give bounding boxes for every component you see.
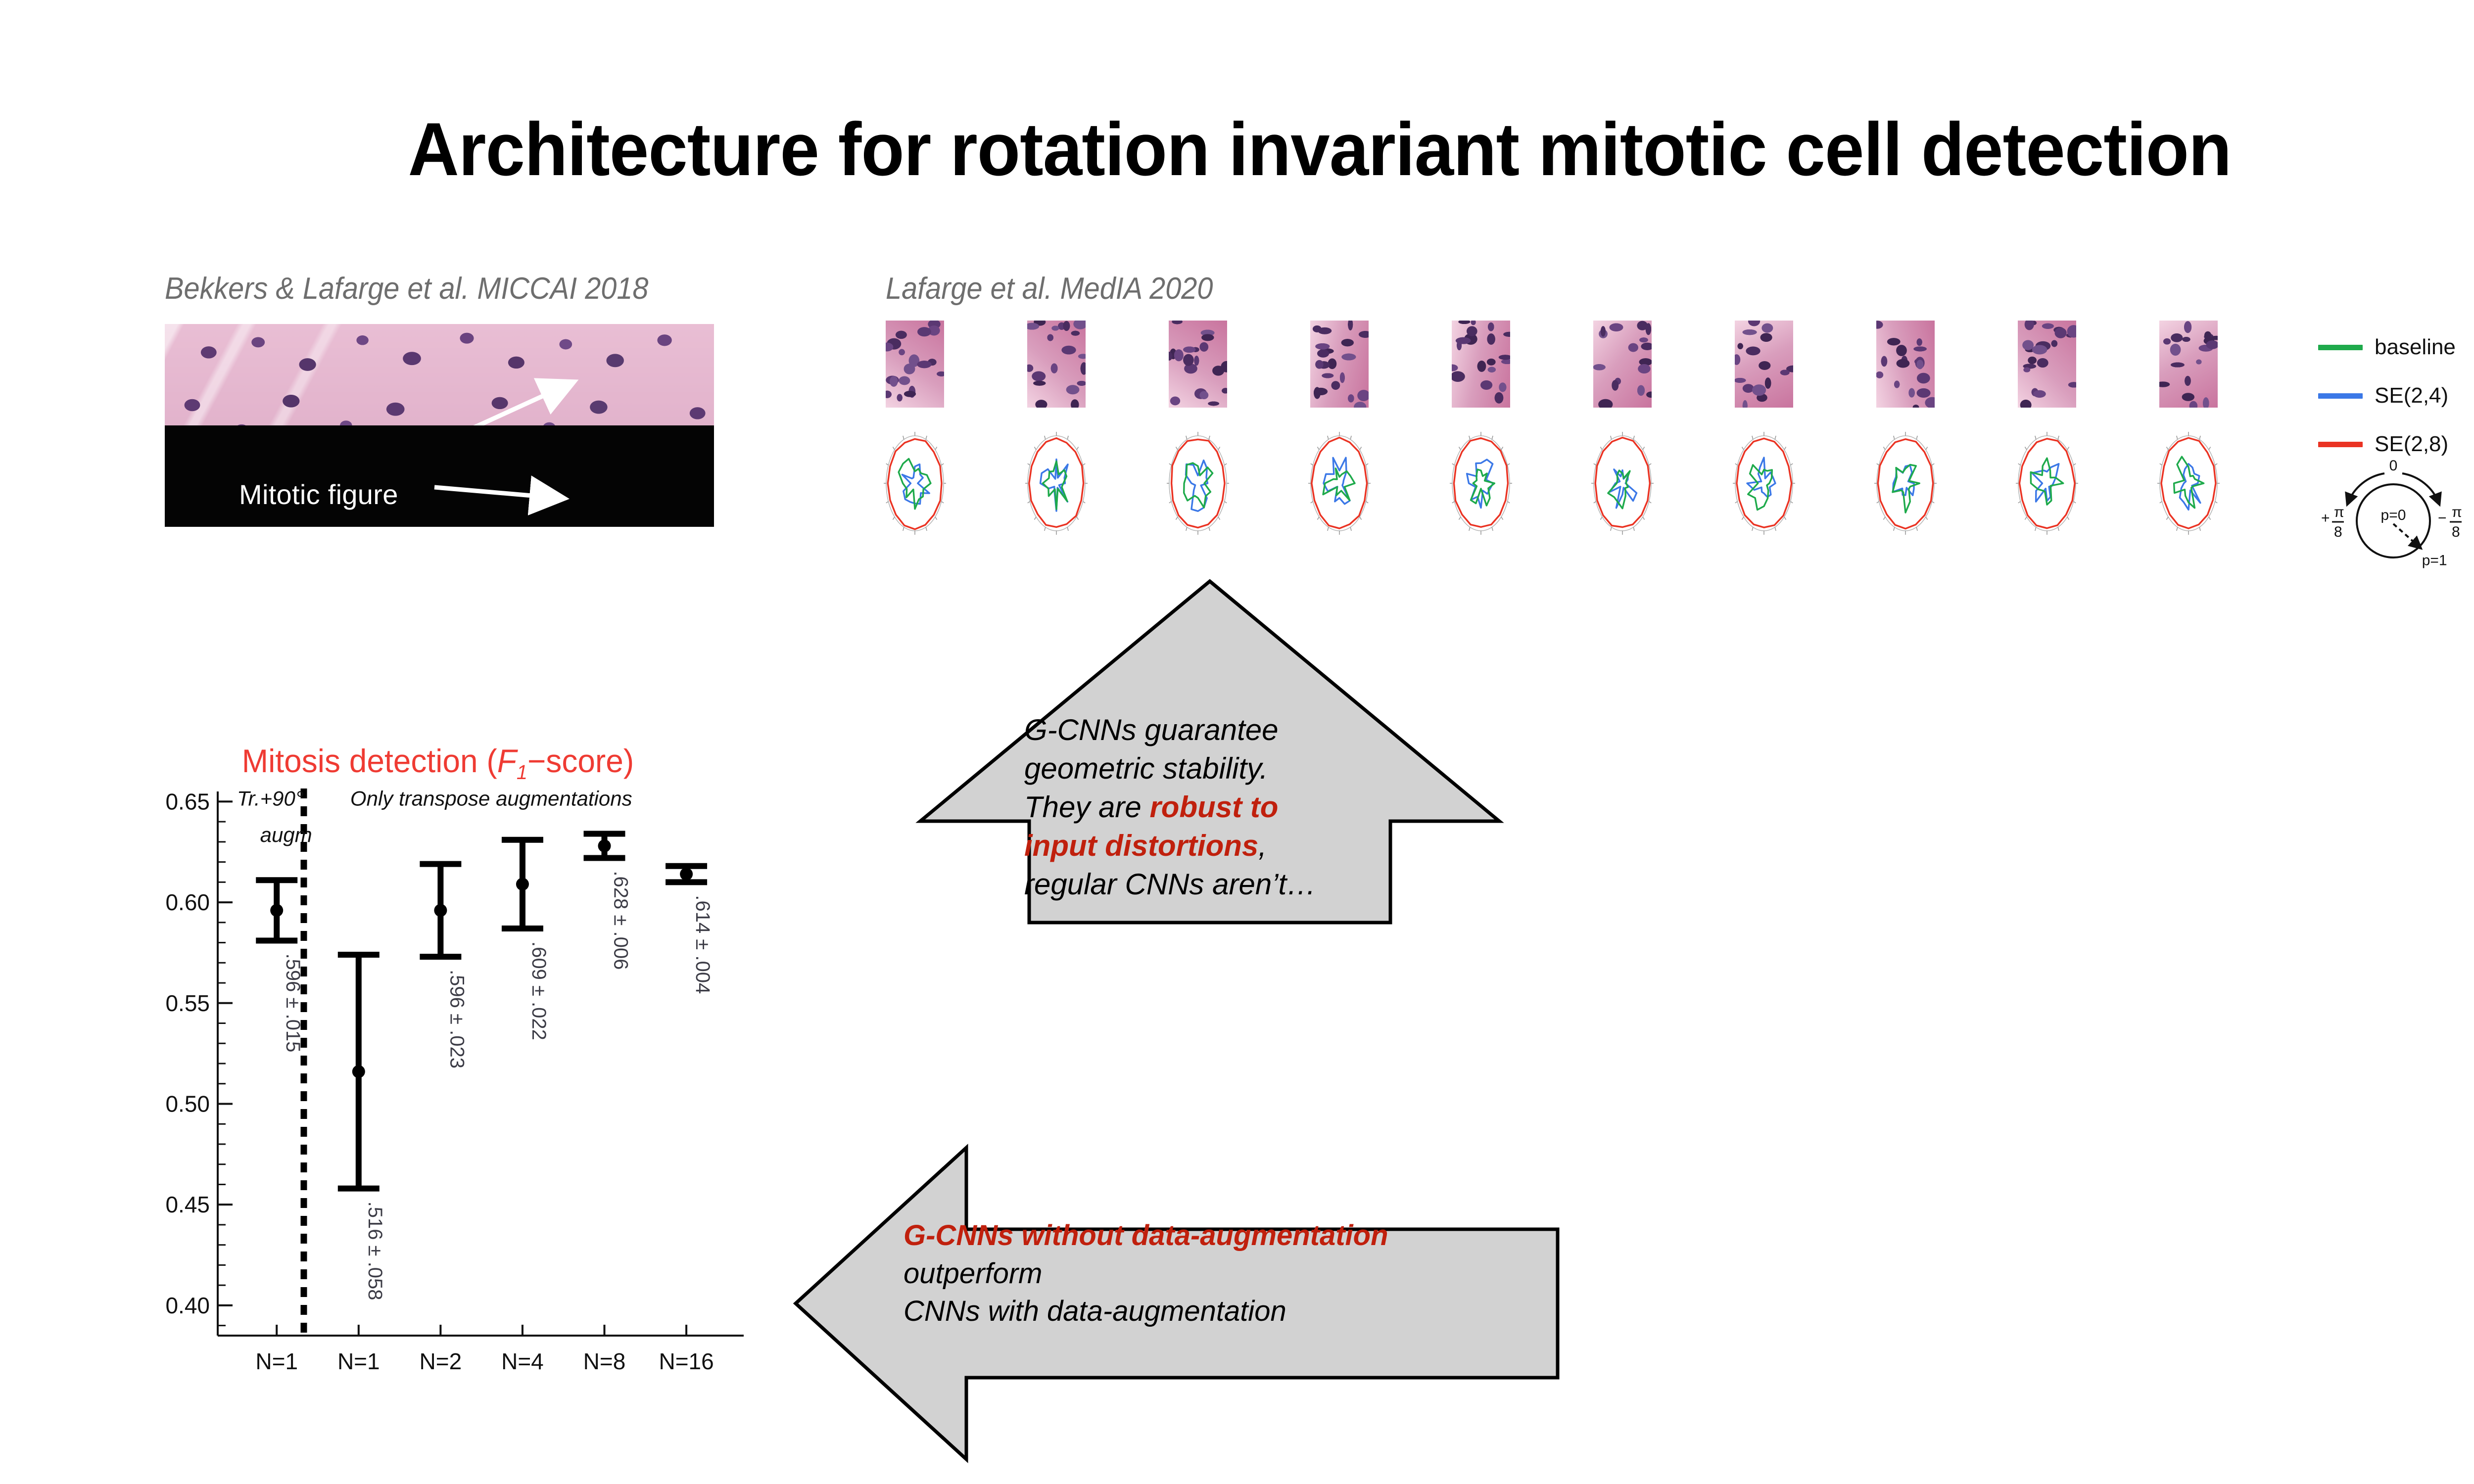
x-tick-label: N=4 — [501, 1348, 544, 1374]
data-point-label: .628 ± .006 — [610, 871, 632, 970]
up-line4-plain: , — [1258, 829, 1267, 862]
legend-color-swatch — [2318, 393, 2363, 399]
histology-thumbnail — [2159, 321, 2218, 408]
chart-title-f: F1 — [497, 742, 527, 779]
polar-stability-plot — [1868, 431, 1943, 535]
data-point-label: .614 ± .004 — [692, 895, 714, 994]
data-point-label: .609 ± .022 — [528, 941, 550, 1040]
polar-stability-plot — [2010, 431, 2084, 535]
chart-annotation: Only transpose augmentations — [350, 787, 632, 810]
data-point — [502, 840, 543, 928]
polar-outer-ring — [1594, 436, 1651, 531]
mitotic-pointer-arrow-bottom — [165, 425, 714, 527]
callout-left-arrow: G-CNNs without data-augmentation outperf… — [791, 1143, 1563, 1464]
data-point — [420, 864, 461, 957]
histology-thumbnail — [886, 321, 944, 408]
mitosis-detection-chart: Mitosis detection (F1−score) 0.650.600.5… — [126, 742, 750, 1395]
detection-heatmap — [165, 425, 714, 527]
mitotic-figure-label: Mitotic figure — [239, 478, 398, 510]
callout-up-text: G-CNNs guarantee geometric stability. Th… — [1024, 711, 1390, 904]
polar-key-center-label: p=0 — [2381, 507, 2406, 523]
up-line3-plain: They are — [1024, 790, 1149, 824]
x-tick-label: N=8 — [583, 1348, 626, 1374]
left-panel-caption: Bekkers & Lafarge et al. MICCAI 2018 — [165, 271, 649, 306]
chart-title-prefix: Mitosis detection ( — [242, 742, 497, 779]
histology-thumbnail — [1876, 321, 1935, 408]
chart-annotation: Tr.+90° — [237, 787, 304, 810]
histology-thumbnail — [2018, 321, 2076, 408]
up-line2: geometric stability. — [1024, 752, 1268, 785]
polar-stability-plot — [1019, 431, 1094, 535]
legend-label: baseline — [2375, 335, 2456, 360]
y-tick-label: 0.60 — [165, 889, 210, 915]
chart-annotation: augm — [260, 823, 312, 846]
polar-series — [1737, 438, 1792, 527]
polar-outer-ring — [1877, 436, 1934, 531]
legend-label: SE(2,8) — [2375, 432, 2448, 457]
up-line3-highlight: robust to — [1149, 790, 1278, 824]
y-tick-label: 0.65 — [165, 788, 210, 814]
polar-series — [1878, 439, 1933, 529]
polar-key-right-label: − — [2438, 510, 2447, 526]
histology-thumbnail — [1735, 321, 1793, 408]
up-line5: regular CNNs aren’t… — [1024, 868, 1316, 901]
y-tick-label: 0.40 — [165, 1293, 210, 1318]
legend-label: SE(2,4) — [2375, 383, 2448, 408]
left-line1-highlight: G-CNNs without data-augmentation — [904, 1219, 1388, 1252]
polar-stability-plot — [1585, 431, 1660, 535]
polar-series — [1323, 468, 1355, 501]
polar-outer-ring — [1169, 436, 1227, 531]
polar-series — [1029, 438, 1084, 527]
polar-key-top-label: 0 — [2389, 458, 2398, 474]
polar-series — [2019, 439, 2075, 528]
histology-thumbnail — [1169, 321, 1227, 408]
polar-stability-plot — [2151, 431, 2226, 535]
data-point-label: .596 ± .023 — [446, 970, 468, 1068]
data-point — [584, 834, 625, 858]
polar-key-left-num: π — [2334, 504, 2344, 520]
polar-key-left-label: + — [2321, 510, 2330, 526]
polar-key-edge-label: p=1 — [2422, 553, 2447, 569]
legend-color-swatch — [2318, 345, 2363, 350]
right-panel-caption: Lafarge et al. MedIA 2020 — [886, 271, 1213, 306]
histology-image: Mitotic figure — [165, 324, 714, 527]
histology-thumbnail — [1593, 321, 1652, 408]
data-point-label: .516 ± .058 — [364, 1202, 386, 1300]
x-tick-label: N=1 — [255, 1348, 298, 1374]
left-line2: outperform — [904, 1257, 1042, 1290]
y-tick-label: 0.50 — [165, 1091, 210, 1116]
callout-left-text: G-CNNs without data-augmentation outperf… — [904, 1217, 1522, 1331]
legend-color-swatch — [2318, 442, 2363, 447]
polar-series — [1172, 439, 1225, 527]
polar-key-left-den: 8 — [2334, 524, 2342, 540]
up-line1: G-CNNs guarantee — [1024, 713, 1279, 746]
data-point-label: .596 ± .015 — [282, 953, 304, 1052]
polar-outer-ring — [1311, 436, 1368, 531]
x-tick-label: N=2 — [420, 1348, 462, 1374]
polar-outer-ring — [1735, 436, 1793, 531]
legend-item-baseline: baseline — [2318, 332, 2456, 362]
y-tick-label: 0.45 — [165, 1192, 210, 1217]
polar-key-right-den: 8 — [2452, 524, 2460, 540]
data-point — [338, 955, 380, 1189]
polar-stability-plot — [1444, 431, 1518, 535]
histology-thumbnail — [1027, 321, 1086, 408]
polar-series — [1595, 438, 1650, 527]
chart-plot-area: 0.650.600.550.500.450.40N=1N=1N=2N=4N=8N… — [126, 778, 750, 1391]
histology-thumbnail — [1452, 321, 1510, 408]
polar-outer-ring — [2018, 436, 2076, 531]
x-tick-label: N=16 — [659, 1348, 714, 1374]
polar-series — [1454, 438, 1508, 527]
polar-series — [1312, 438, 1367, 529]
x-tick-label: N=1 — [337, 1348, 380, 1374]
polar-stability-plot — [1302, 431, 1377, 535]
page-title: Architecture for rotation invariant mito… — [79, 106, 2474, 193]
callout-up-arrow: G-CNNs guarantee geometric stability. Th… — [913, 571, 1507, 932]
data-point — [666, 866, 707, 882]
polar-outer-ring — [2160, 436, 2217, 531]
up-line4-highlight: input distortions — [1024, 829, 1258, 862]
left-line3: CNNs with data-augmentation — [904, 1295, 1286, 1327]
data-point — [256, 880, 297, 940]
histology-thumbnail — [1310, 321, 1369, 408]
polar-key-diagram: 0+π8−π8p=0p=1 — [2287, 454, 2474, 603]
polar-stability-plot — [1161, 431, 1235, 535]
y-tick-label: 0.55 — [165, 990, 210, 1016]
polar-key-right-num: π — [2452, 504, 2462, 520]
polar-series — [888, 439, 942, 529]
polar-stability-plot — [1727, 431, 1801, 535]
chart-title-suffix: −score) — [527, 742, 634, 779]
polar-stability-plot — [878, 431, 952, 535]
polar-series — [1184, 463, 1213, 508]
polar-series — [2161, 438, 2216, 528]
legend-item-se-2-4-: SE(2,4) — [2318, 381, 2456, 411]
polar-outer-ring — [886, 436, 944, 531]
